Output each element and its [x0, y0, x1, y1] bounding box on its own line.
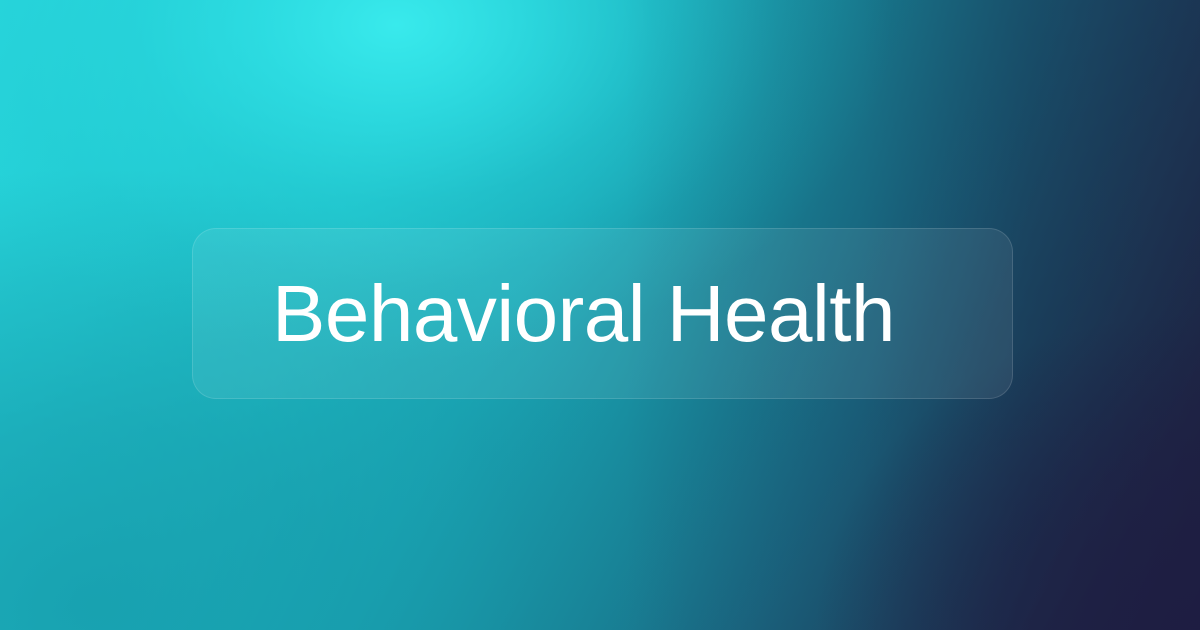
page-title: Behavioral Health	[193, 274, 895, 354]
og-image-canvas: Behavioral Health	[0, 0, 1200, 630]
title-card: Behavioral Health	[192, 228, 1013, 399]
